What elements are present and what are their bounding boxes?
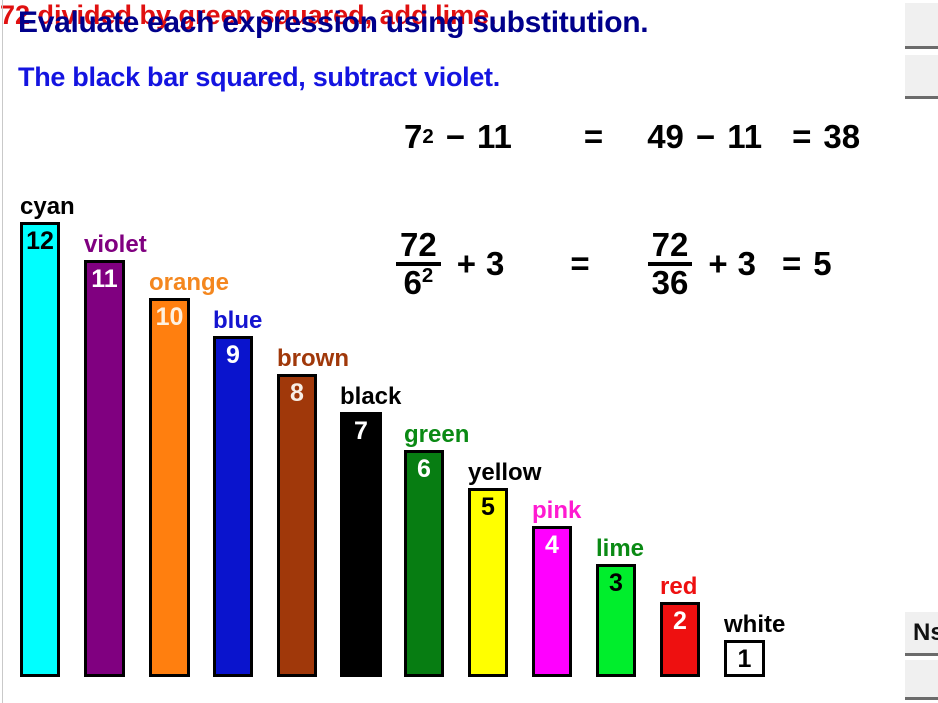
bar-rect-violet[interactable]: 11 xyxy=(84,260,125,677)
bar-value-brown: 8 xyxy=(280,381,314,406)
bar-rect-green[interactable]: 6 xyxy=(404,450,444,677)
bar-group-green: green6 xyxy=(404,0,444,677)
bar-label-cyan: cyan xyxy=(20,195,75,219)
bar-group-yellow: yellow5 xyxy=(468,0,508,677)
bar-group-blue: blue9 xyxy=(213,0,253,677)
bar-group-red: red2 xyxy=(660,0,700,677)
bar-rect-brown[interactable]: 8 xyxy=(277,374,317,677)
bar-value-orange: 10 xyxy=(152,305,187,330)
bar-rect-yellow[interactable]: 5 xyxy=(468,488,508,677)
bar-group-black: black7 xyxy=(340,0,382,677)
bar-value-violet: 11 xyxy=(87,267,122,292)
chrome-ns-label: Ns xyxy=(913,619,938,647)
bar-label-red: red xyxy=(660,575,697,599)
bar-group-white: white1 xyxy=(724,0,765,677)
bar-group-pink: pink4 xyxy=(532,0,572,677)
bar-chart: cyan12violet11orange10blue9brown8black7g… xyxy=(0,0,938,703)
bar-group-violet: violet11 xyxy=(84,0,125,677)
bar-label-white: white xyxy=(724,613,785,637)
bar-value-white: 1 xyxy=(727,647,762,672)
bar-group-cyan: cyan12 xyxy=(20,0,60,677)
bar-group-orange: orange10 xyxy=(149,0,190,677)
bar-label-green: green xyxy=(404,423,469,447)
bar-label-yellow: yellow xyxy=(468,461,541,485)
bar-value-lime: 3 xyxy=(599,571,633,596)
bar-value-cyan: 12 xyxy=(23,229,57,254)
bar-group-brown: brown8 xyxy=(277,0,317,677)
bar-label-black: black xyxy=(340,385,401,409)
bar-rect-blue[interactable]: 9 xyxy=(213,336,253,677)
bar-label-lime: lime xyxy=(596,537,644,561)
bar-value-yellow: 5 xyxy=(471,495,505,520)
bar-value-green: 6 xyxy=(407,457,441,482)
chrome-panel-second[interactable] xyxy=(905,55,938,99)
bar-label-blue: blue xyxy=(213,309,262,333)
bar-label-brown: brown xyxy=(277,347,349,371)
bar-label-violet: violet xyxy=(84,233,147,257)
bar-rect-lime[interactable]: 3 xyxy=(596,564,636,677)
bar-rect-white[interactable]: 1 xyxy=(724,640,765,677)
bar-rect-pink[interactable]: 4 xyxy=(532,526,572,677)
bar-value-pink: 4 xyxy=(535,533,569,558)
bar-rect-black[interactable]: 7 xyxy=(340,412,382,677)
bar-value-blue: 9 xyxy=(216,343,250,368)
bar-rect-cyan[interactable]: 12 xyxy=(20,222,60,677)
bar-rect-orange[interactable]: 10 xyxy=(149,298,190,677)
chrome-panel-ns-button[interactable]: Ns xyxy=(905,612,938,656)
bar-value-black: 7 xyxy=(343,419,379,444)
bar-rect-red[interactable]: 2 xyxy=(660,602,700,677)
bar-label-pink: pink xyxy=(532,499,581,523)
bar-group-lime: lime3 xyxy=(596,0,636,677)
chrome-panel-top[interactable] xyxy=(905,3,938,49)
bar-value-red: 2 xyxy=(663,609,697,634)
chrome-panel-bottom[interactable] xyxy=(905,660,938,700)
